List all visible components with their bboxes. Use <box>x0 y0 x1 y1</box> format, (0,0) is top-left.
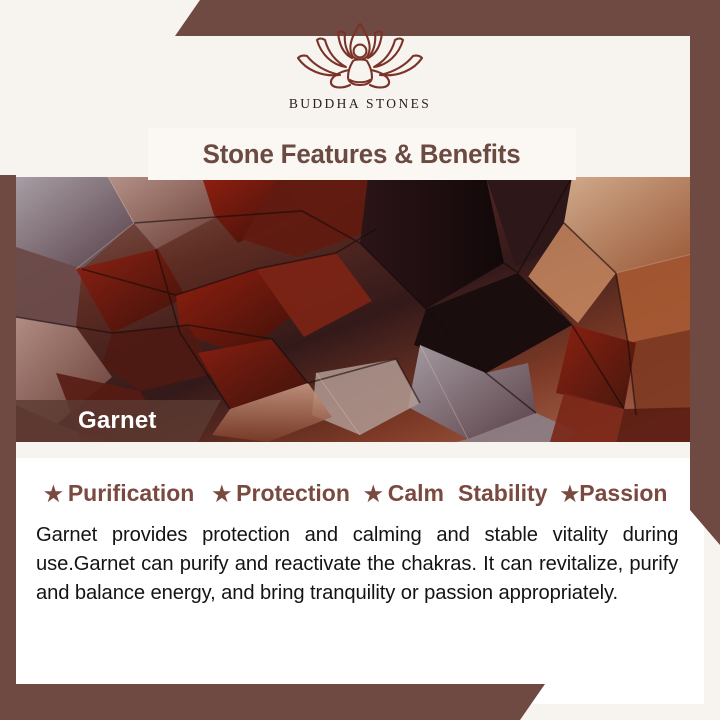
panel-top-strip <box>16 442 704 458</box>
feature-item-calm: ★ Calm <box>364 480 444 507</box>
stone-description: Garnet provides protection and calming a… <box>36 520 678 607</box>
infographic-card: BUDDHA STONES Stone Features & Benefits … <box>0 0 720 720</box>
feature-item-purification: ★ Purification <box>44 480 194 507</box>
stone-name-badge: Garnet <box>16 400 221 442</box>
frame-left-bar <box>0 175 16 685</box>
star-icon: ★ <box>364 484 383 505</box>
lotus-meditation-icon <box>290 20 430 92</box>
star-icon: ★ <box>560 484 579 505</box>
feature-item-protection: ★ Protection <box>212 480 350 507</box>
stone-name-label: Garnet <box>78 407 157 435</box>
page-title: Stone Features & Benefits <box>203 139 521 170</box>
title-banner: Stone Features & Benefits <box>148 128 576 180</box>
brand-name: BUDDHA STONES <box>289 96 431 112</box>
feature-item-stability: Stability <box>458 480 547 507</box>
feature-list: ★ Purification ★ Protection ★ Calm Stabi… <box>44 480 684 507</box>
feature-label: Purification <box>68 480 195 507</box>
star-icon: ★ <box>44 484 63 505</box>
content-panel: ★ Purification ★ Protection ★ Calm Stabi… <box>16 442 704 704</box>
frame-right-bar-lower <box>690 330 720 545</box>
feature-label: Protection <box>236 480 350 507</box>
feature-item-passion: ★ Passion <box>560 480 667 507</box>
feature-label: Passion <box>579 480 667 507</box>
brand-header: BUDDHA STONES <box>0 0 720 128</box>
feature-label: Calm <box>388 480 444 507</box>
star-icon: ★ <box>212 484 231 505</box>
feature-label: Stability <box>458 480 547 507</box>
